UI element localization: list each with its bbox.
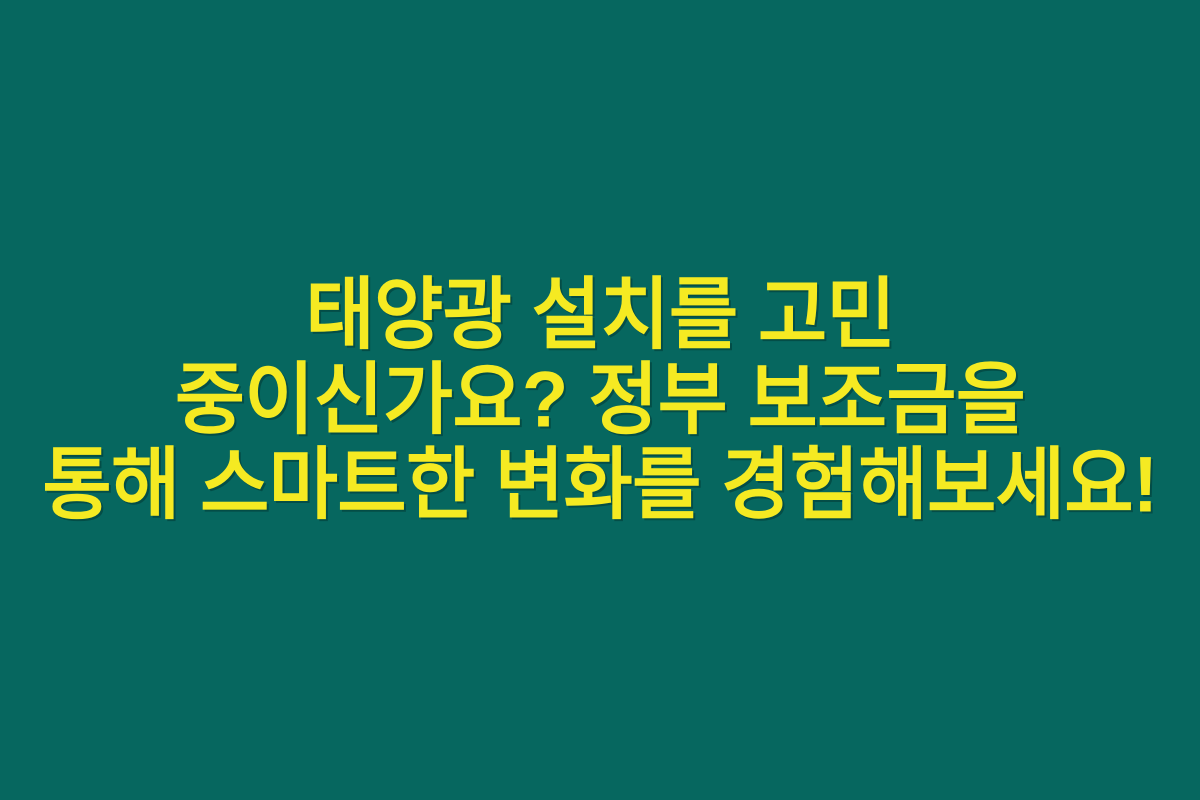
headline-block: 태양광 설치를 고민 중이신가요? 정부 보조금을 통해 스마트한 변화를 경험…: [0, 272, 1200, 527]
headline-line-2: 중이신가요? 정부 보조금을: [175, 354, 1025, 444]
promo-banner: 태양광 설치를 고민 중이신가요? 정부 보조금을 통해 스마트한 변화를 경험…: [0, 0, 1200, 800]
headline-line-1: 태양광 설치를 고민: [305, 269, 895, 359]
headline-line-3: 통해 스마트한 변화를 경험해보세요!: [42, 439, 1157, 529]
